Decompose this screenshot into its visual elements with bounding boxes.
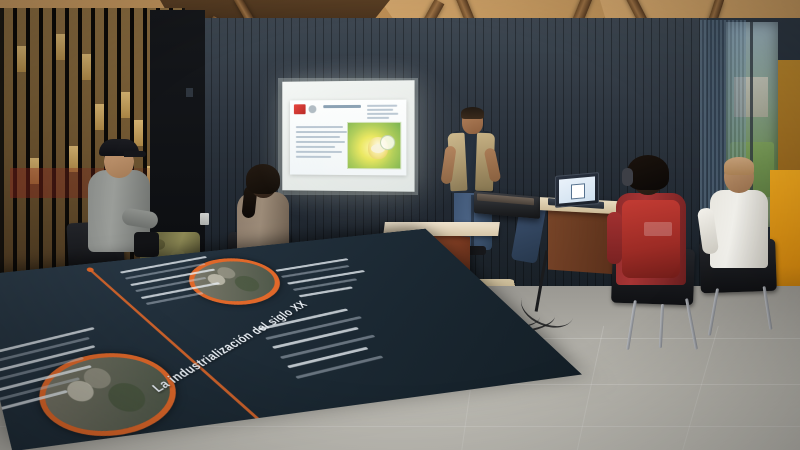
slide-logo-icon [294,104,306,114]
attendee-white-shirt [710,190,768,268]
attendee-white-hair [724,157,754,175]
slide-title-text [323,105,361,108]
attendee-gray-bag [134,232,159,257]
wall-fixture [186,88,193,97]
wall-outlet [200,213,209,225]
attendee-brown-hair [246,164,280,194]
photo-scene: La industrialización del siglo XX [0,0,800,450]
presentation-slide [290,100,406,176]
attendee-red-hair [627,155,669,190]
slide-secondary-logo-icon [309,105,317,113]
attendee-red-arm [607,212,622,264]
vest-printed-label [644,222,672,236]
dark-wall-panel [150,10,205,260]
slide-speech-bubble-icon [380,135,395,150]
banner-title: La industrialización del siglo XX [149,298,311,395]
laptop-display [559,176,595,203]
projection-screen [282,80,414,192]
presenter-hair [461,107,484,119]
attendee-red-vest [622,200,680,278]
presenter-laptop[interactable] [555,172,599,208]
orange-wall-panel-upper [778,60,800,180]
laptop-window-icon [571,183,585,199]
headphones-icon [622,168,633,186]
slide-illustration [347,122,401,170]
attendee-gray-cap-brim [124,151,146,157]
projector-top-face [477,193,534,205]
banner-photo-right [176,253,295,312]
